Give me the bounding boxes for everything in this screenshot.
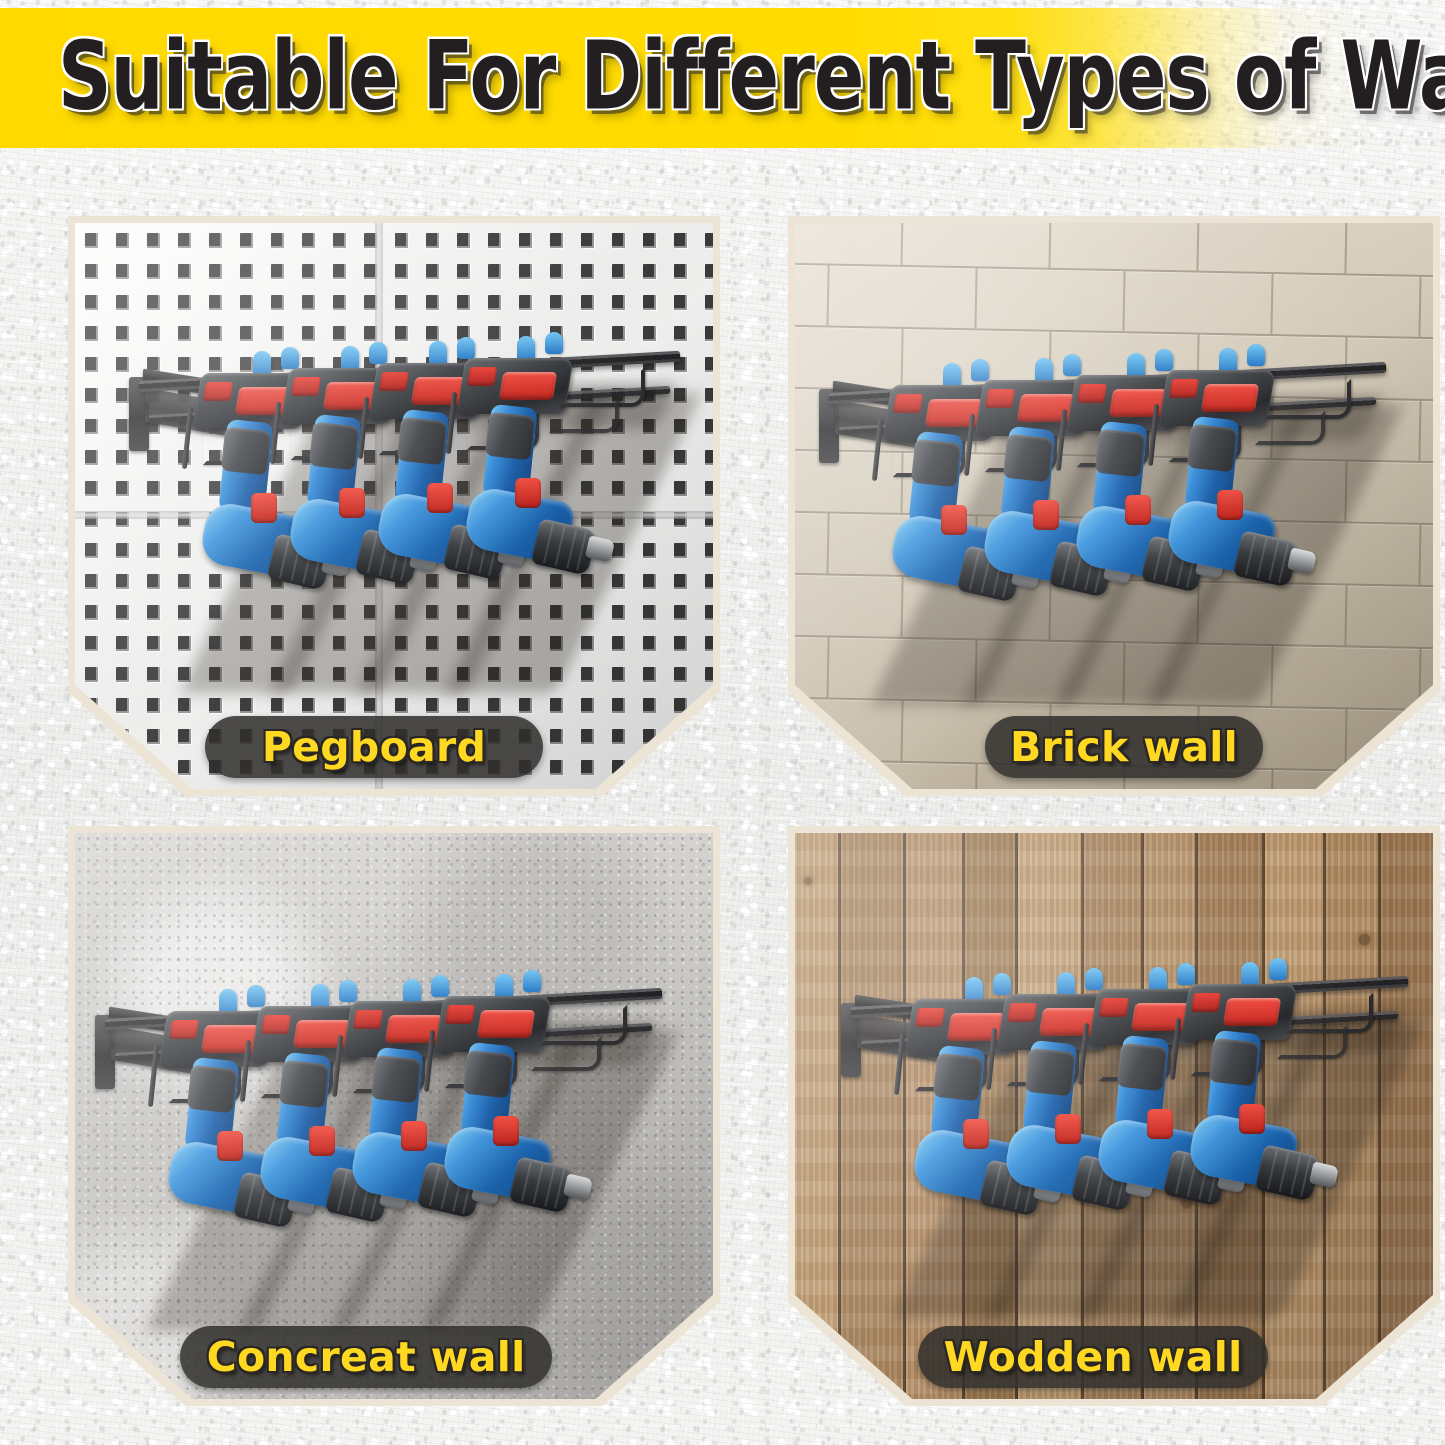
drill-grip-band: [1187, 424, 1237, 473]
header-banner: Suitable For Different Types of Walls: [0, 8, 1445, 148]
drill-battery-release: [293, 1020, 351, 1048]
drill-hang-clip: [1177, 963, 1195, 985]
drill-rack-concrete: [75, 833, 713, 1399]
drill-hang-clip: [1155, 349, 1173, 371]
panel-pegboard[interactable]: [68, 216, 720, 796]
panel-brick-inner: [795, 223, 1433, 789]
drill-trigger: [1147, 1109, 1173, 1139]
drill-battery-side-light: [893, 394, 923, 413]
drill-grip-band: [911, 439, 961, 488]
drill-grip-band: [463, 1050, 513, 1099]
drill-grip-band: [1117, 1043, 1167, 1092]
rack-end-hook: [1255, 411, 1325, 445]
label-brick-wall-text: Brick wall: [1010, 727, 1238, 768]
drill-grip-band: [309, 422, 359, 471]
panel-brick[interactable]: [788, 216, 1440, 796]
drill-grip-band: [221, 427, 271, 476]
drill-grip-band: [397, 417, 447, 466]
drill-battery-release: [1017, 394, 1075, 422]
drill-hang-clip: [993, 973, 1011, 995]
drill-hang-clip: [971, 359, 989, 381]
drill-hang-clip: [1063, 354, 1081, 376]
drill-hang-clip: [247, 985, 265, 1007]
drill-grip-band: [1003, 434, 1053, 483]
drill-battery-side-light: [1099, 998, 1129, 1017]
drill-hang-clip: [1085, 968, 1103, 990]
drill-trigger: [1217, 490, 1243, 520]
label-concrete-wall-text: Concreat wall: [207, 1337, 526, 1378]
infographic-canvas: Suitable For Different Types of Walls: [0, 0, 1445, 1445]
page-title-text: Suitable For Different Types of Walls: [58, 29, 1445, 123]
drill-trigger: [515, 478, 541, 508]
page-title: Suitable For Different Types of Walls: [58, 36, 1445, 116]
drill-trigger: [427, 483, 453, 513]
drill-hang-clip: [431, 975, 449, 997]
drill-trigger: [963, 1119, 989, 1149]
drill-battery-side-light: [169, 1020, 199, 1039]
drill-grip-band: [933, 1053, 983, 1102]
drill-battery-release: [1039, 1008, 1097, 1036]
drill-hang-clip: [369, 342, 387, 364]
drill-hang-clip: [457, 337, 475, 359]
drill-grip-band: [187, 1065, 237, 1114]
drill-rack-wood: [795, 833, 1433, 1399]
drill-trigger: [1125, 495, 1151, 525]
drill-battery-side-light: [203, 382, 233, 401]
drill-trigger: [1033, 500, 1059, 530]
drill-battery-side-light: [291, 377, 321, 396]
label-wooden-wall-text: Wodden wall: [944, 1337, 1243, 1378]
drill-grip-band: [1209, 1038, 1259, 1087]
drill-hang-clip: [281, 347, 299, 369]
drill-hang-clip: [1247, 344, 1265, 366]
drill-battery-side-light: [915, 1008, 945, 1027]
drill-trigger: [1055, 1114, 1081, 1144]
drill-grip-band: [1025, 1048, 1075, 1097]
drill-trigger: [493, 1116, 519, 1146]
drill-battery-side-light: [467, 367, 497, 386]
drill-battery-side-light: [1007, 1003, 1037, 1022]
drill-battery-side-light: [261, 1015, 291, 1034]
drill-trigger: [941, 505, 967, 535]
drill-rack-pegboard: [75, 223, 713, 789]
drill-battery-side-light: [1191, 993, 1221, 1012]
drill-battery-release: [385, 1015, 443, 1043]
drill-trigger: [339, 488, 365, 518]
drill-battery-side-light: [353, 1010, 383, 1029]
drill-battery-release: [1109, 389, 1167, 417]
drill-battery-release: [925, 399, 983, 427]
label-concrete-wall: Concreat wall: [180, 1326, 552, 1388]
drill-grip-band: [1095, 429, 1145, 478]
drill-battery-side-light: [379, 372, 409, 391]
drill-grip-band: [371, 1055, 421, 1104]
panel-pegboard-inner: [75, 223, 713, 789]
drill-battery-side-light: [1077, 384, 1107, 403]
panel-concrete[interactable]: [68, 826, 720, 1406]
drill-grip-band: [485, 412, 535, 461]
drill-battery-side-light: [445, 1005, 475, 1024]
rack-end-hook: [549, 399, 619, 433]
drill-rack-brick: [795, 223, 1433, 789]
drill-trigger: [251, 493, 277, 523]
drill-hang-clip: [1269, 958, 1287, 980]
drill-grip-band: [279, 1060, 329, 1109]
drill-battery-release: [1201, 384, 1259, 412]
panel-concrete-inner: [75, 833, 713, 1399]
label-pegboard: Pegboard: [205, 716, 543, 778]
label-brick-wall: Brick wall: [985, 716, 1263, 778]
drill-trigger: [217, 1131, 243, 1161]
rack-end-hook: [531, 1037, 601, 1071]
panel-wood[interactable]: [788, 826, 1440, 1406]
drill-hang-clip: [545, 332, 563, 354]
label-wooden-wall: Wodden wall: [918, 1326, 1268, 1388]
panel-wood-inner: [795, 833, 1433, 1399]
drill-battery-release: [1223, 998, 1281, 1026]
drill-hang-clip: [339, 980, 357, 1002]
drill-battery-side-light: [1169, 379, 1199, 398]
label-pegboard-text: Pegboard: [262, 727, 486, 768]
drill-trigger: [1239, 1104, 1265, 1134]
drill-trigger: [401, 1121, 427, 1151]
drill-hang-clip: [523, 970, 541, 992]
drill-battery-release: [201, 1025, 259, 1053]
rack-end-hook: [1277, 1025, 1347, 1059]
drill-battery-release: [477, 1010, 535, 1038]
drill-battery-release: [499, 372, 557, 400]
drill-battery-side-light: [985, 389, 1015, 408]
drill-trigger: [309, 1126, 335, 1156]
drill-battery-release: [947, 1013, 1005, 1041]
drill-battery-release: [1131, 1003, 1189, 1031]
